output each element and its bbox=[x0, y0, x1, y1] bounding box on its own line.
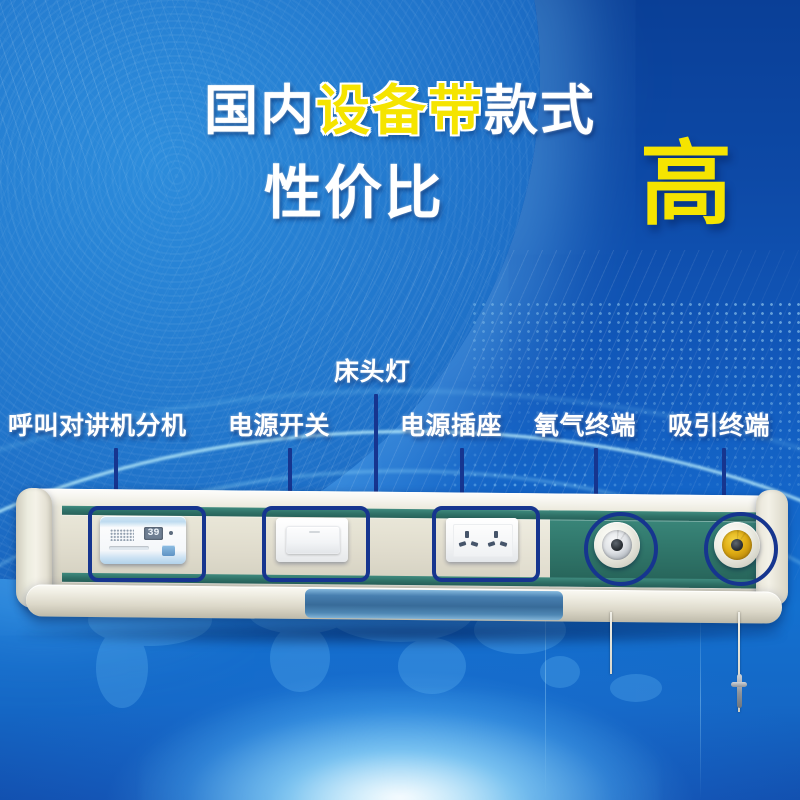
highlight-ring-nurse-call-intercom bbox=[88, 506, 206, 582]
callout-label-suction-terminal: 吸引终端 bbox=[668, 414, 770, 439]
callout-label-power-switch: 电源开关 bbox=[228, 414, 330, 439]
highlight-ring-power-switch bbox=[262, 506, 370, 582]
highlight-ring-power-socket bbox=[432, 506, 540, 582]
callout-label-bed-head-lamp: 床头灯 bbox=[334, 360, 411, 385]
pull-handle-stem-icon bbox=[737, 674, 742, 708]
cross-pull-handle[interactable] bbox=[731, 674, 747, 708]
device-rail-blue-panel bbox=[305, 589, 563, 620]
pull-handle-arm-icon bbox=[731, 682, 747, 687]
bed-head-unit: 39 bbox=[22, 492, 782, 642]
highlight-ring-suction-terminal bbox=[704, 512, 778, 586]
callout-label-nurse-call-intercom: 呼叫对讲机分机 bbox=[8, 414, 187, 439]
callout-layer: 呼叫对讲机分机 电源开关 床头灯 电源插座 氧气终端 吸引终端 bbox=[0, 0, 800, 800]
callout-label-oxygen-terminal: 氧气终端 bbox=[534, 414, 636, 439]
promo-banner: 国内设备带款式 性价比 高 呼叫对讲机分机 电源开关 床头灯 电源插座 氧气终端… bbox=[0, 0, 800, 800]
oxygen-tube-cord bbox=[610, 612, 612, 674]
highlight-ring-oxygen-terminal bbox=[584, 512, 658, 586]
callout-label-power-socket: 电源插座 bbox=[400, 414, 502, 439]
